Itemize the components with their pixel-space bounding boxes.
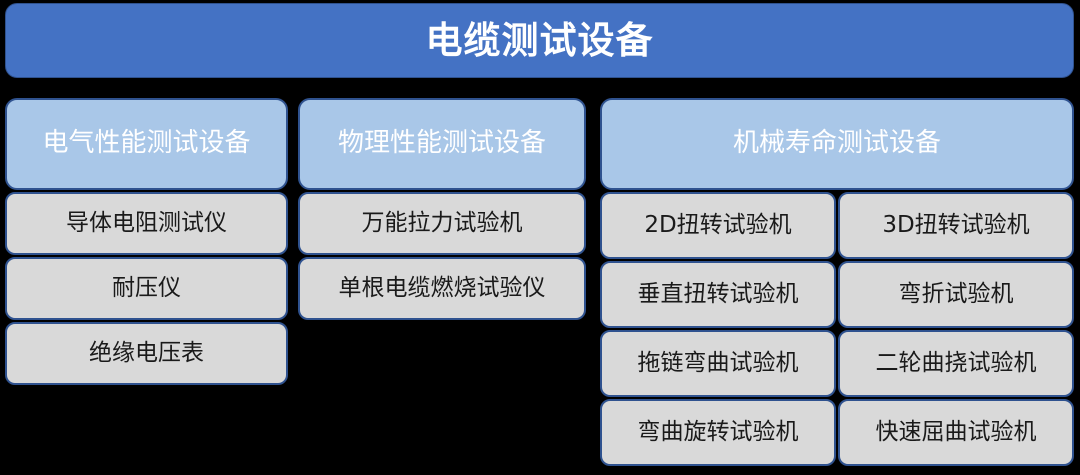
- page-title: 电缆测试设备: [426, 22, 654, 59]
- list-item[interactable]: 垂直扭转试验机: [600, 261, 836, 328]
- item-row: 2D扭转试验机 3D扭转试验机: [600, 192, 1074, 259]
- category-header-mechanical-life: 机械寿命测试设备: [600, 98, 1074, 190]
- list-item[interactable]: 绝缘电压表: [5, 322, 288, 385]
- list-item[interactable]: 快速屈曲试验机: [838, 399, 1074, 466]
- item-list-electrical: 导体电阻测试仪 耐压仪 绝缘电压表: [5, 192, 288, 385]
- list-item[interactable]: 导体电阻测试仪: [5, 192, 288, 255]
- diagram-title-banner: 电缆测试设备: [5, 3, 1074, 78]
- item-row: 拖链弯曲试验机 二轮曲挠试验机: [600, 330, 1074, 397]
- list-item[interactable]: 弯折试验机: [838, 261, 1074, 328]
- item-row: 垂直扭转试验机 弯折试验机: [600, 261, 1074, 328]
- list-item[interactable]: 2D扭转试验机: [600, 192, 836, 259]
- category-columns: 电气性能测试设备 导体电阻测试仪 耐压仪 绝缘电压表 物理性能测试设备 万能拉力…: [0, 98, 1080, 475]
- category-column-physical: 物理性能测试设备 万能拉力试验机 单根电缆燃烧试验仪: [298, 98, 586, 320]
- category-header-electrical: 电气性能测试设备: [5, 98, 288, 190]
- item-row: 弯曲旋转试验机 快速屈曲试验机: [600, 399, 1074, 466]
- list-item[interactable]: 3D扭转试验机: [838, 192, 1074, 259]
- list-item[interactable]: 拖链弯曲试验机: [600, 330, 836, 397]
- category-column-electrical: 电气性能测试设备 导体电阻测试仪 耐压仪 绝缘电压表: [5, 98, 288, 385]
- category-column-mechanical-life: 机械寿命测试设备 2D扭转试验机 3D扭转试验机 垂直扭转试验机 弯折试验机 拖…: [600, 98, 1074, 466]
- list-item[interactable]: 耐压仪: [5, 257, 288, 320]
- list-item[interactable]: 二轮曲挠试验机: [838, 330, 1074, 397]
- list-item[interactable]: 弯曲旋转试验机: [600, 399, 836, 466]
- category-header-physical: 物理性能测试设备: [298, 98, 586, 190]
- item-list-physical: 万能拉力试验机 单根电缆燃烧试验仪: [298, 192, 586, 320]
- list-item[interactable]: 万能拉力试验机: [298, 192, 586, 255]
- list-item[interactable]: 单根电缆燃烧试验仪: [298, 257, 586, 320]
- diagram-root: 电缆测试设备 电气性能测试设备 导体电阻测试仪 耐压仪 绝缘电压表 物理性能测试…: [0, 0, 1080, 475]
- item-grid-mechanical-life: 2D扭转试验机 3D扭转试验机 垂直扭转试验机 弯折试验机 拖链弯曲试验机 二轮…: [600, 192, 1074, 466]
